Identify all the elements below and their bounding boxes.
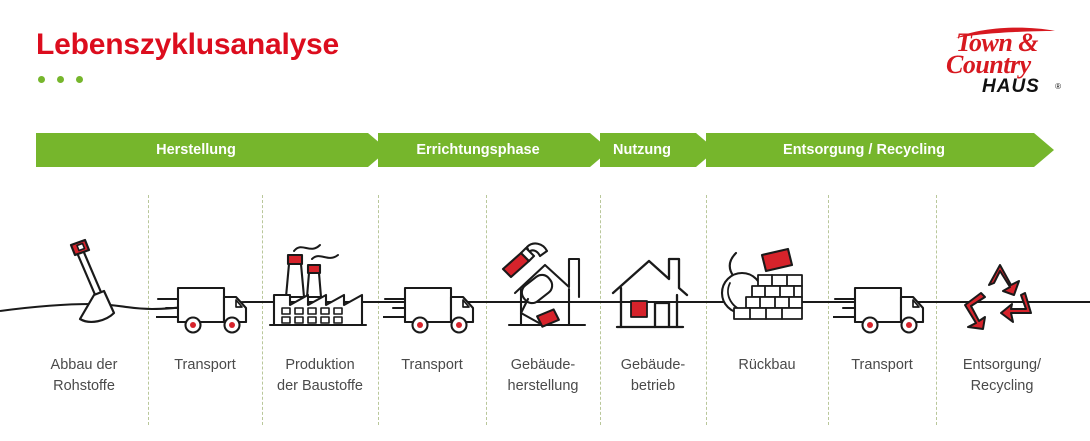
title-dot xyxy=(38,76,45,83)
stage-icon-wrap xyxy=(148,229,262,339)
shovel-icon xyxy=(38,235,130,339)
stage-gebaeudeherstellung[interactable]: Gebäude- herstellung xyxy=(486,195,600,425)
stage-transport-1[interactable]: Transport xyxy=(148,195,262,425)
phase-banner-errichtungsphase[interactable]: Errichtungsphase xyxy=(378,133,590,167)
stage-label: Rückbau xyxy=(706,355,828,376)
logo-registered-mark: ® xyxy=(1055,82,1061,91)
logo-line-3: HAUS xyxy=(982,76,1040,98)
stage-icon-wrap xyxy=(262,229,378,339)
stage-icon-wrap xyxy=(600,229,706,339)
stage-label-line1: Gebäude- xyxy=(511,357,576,373)
stage-label-line1: Entsorgung/ xyxy=(963,357,1041,373)
phase-label: Entsorgung / Recycling xyxy=(783,142,945,158)
truck-icon xyxy=(383,275,481,339)
stage-label: Transport xyxy=(828,355,936,376)
stage-produktion-der-baustoffe[interactable]: Produktion der Baustoffe xyxy=(262,195,378,425)
truck-icon xyxy=(156,275,254,339)
phase-banner-entsorgung-recycling[interactable]: Entsorgung / Recycling xyxy=(706,133,1034,167)
stage-icon-wrap xyxy=(828,229,936,339)
stage-label-line1: Rückbau xyxy=(738,357,795,373)
phase-banner-row: Herstellung Errichtungsphase Nutzung Ent… xyxy=(0,133,1090,167)
phase-label: Nutzung xyxy=(613,142,671,158)
stage-icon-wrap xyxy=(936,229,1068,339)
stage-label-line2: der Baustoffe xyxy=(262,376,378,397)
factory-icon xyxy=(268,233,372,339)
stage-label: Gebäude- betrieb xyxy=(600,355,706,397)
stage-label: Entsorgung/ Recycling xyxy=(936,355,1068,397)
lifecycle-timeline: Abbau der Rohstoffe xyxy=(0,167,1090,441)
page-title: Lebenszyklusanalyse xyxy=(36,28,339,62)
infographic-canvas: Lebenszyklusanalyse Town & Country HAUS … xyxy=(0,0,1090,441)
stage-label-line1: Produktion xyxy=(285,357,354,373)
wrecking-ball-icon xyxy=(714,241,820,339)
stage-label-line1: Abbau der xyxy=(51,357,118,373)
stage-label: Transport xyxy=(148,355,262,376)
stage-label-line1: Gebäude- xyxy=(621,357,686,373)
stage-label-line2: Recycling xyxy=(936,376,1068,397)
stage-label-line2: betrieb xyxy=(600,376,706,397)
stage-label-line1: Transport xyxy=(851,357,913,373)
title-dot xyxy=(76,76,83,83)
house-build-icon xyxy=(491,233,595,339)
stage-abbau-der-rohstoffe[interactable]: Abbau der Rohstoffe xyxy=(20,195,148,425)
title-dots-decoration xyxy=(38,76,83,83)
phase-banner-herstellung[interactable]: Herstellung xyxy=(36,133,368,167)
phase-label: Errichtungsphase xyxy=(416,142,539,158)
stage-transport-2[interactable]: Transport xyxy=(378,195,486,425)
stage-icon-wrap xyxy=(706,229,828,339)
stage-icon-wrap xyxy=(486,229,600,339)
stage-label: Gebäude- herstellung xyxy=(486,355,600,397)
stage-rueckbau[interactable]: Rückbau xyxy=(706,195,828,425)
house-icon xyxy=(607,251,699,339)
stage-icon-wrap xyxy=(20,229,148,339)
recycling-icon xyxy=(959,255,1045,339)
title-dot xyxy=(57,76,64,83)
stage-label-line2: herstellung xyxy=(486,376,600,397)
stage-label: Transport xyxy=(378,355,486,376)
brand-logo: Town & Country HAUS ® xyxy=(946,28,1062,100)
stage-label-line1: Transport xyxy=(401,357,463,373)
stage-transport-3[interactable]: Transport xyxy=(828,195,936,425)
stage-icon-wrap xyxy=(378,229,486,339)
stage-gebaeudebetrieb[interactable]: Gebäude- betrieb xyxy=(600,195,706,425)
stage-entsorgung-recycling[interactable]: Entsorgung/ Recycling xyxy=(936,195,1068,425)
stage-label: Produktion der Baustoffe xyxy=(262,355,378,397)
truck-icon xyxy=(833,275,931,339)
stage-label-line1: Transport xyxy=(174,357,236,373)
stage-label-line2: Rohstoffe xyxy=(20,376,148,397)
phase-banner-nutzung[interactable]: Nutzung xyxy=(600,133,696,167)
phase-label: Herstellung xyxy=(156,142,236,158)
stage-label: Abbau der Rohstoffe xyxy=(20,355,148,397)
